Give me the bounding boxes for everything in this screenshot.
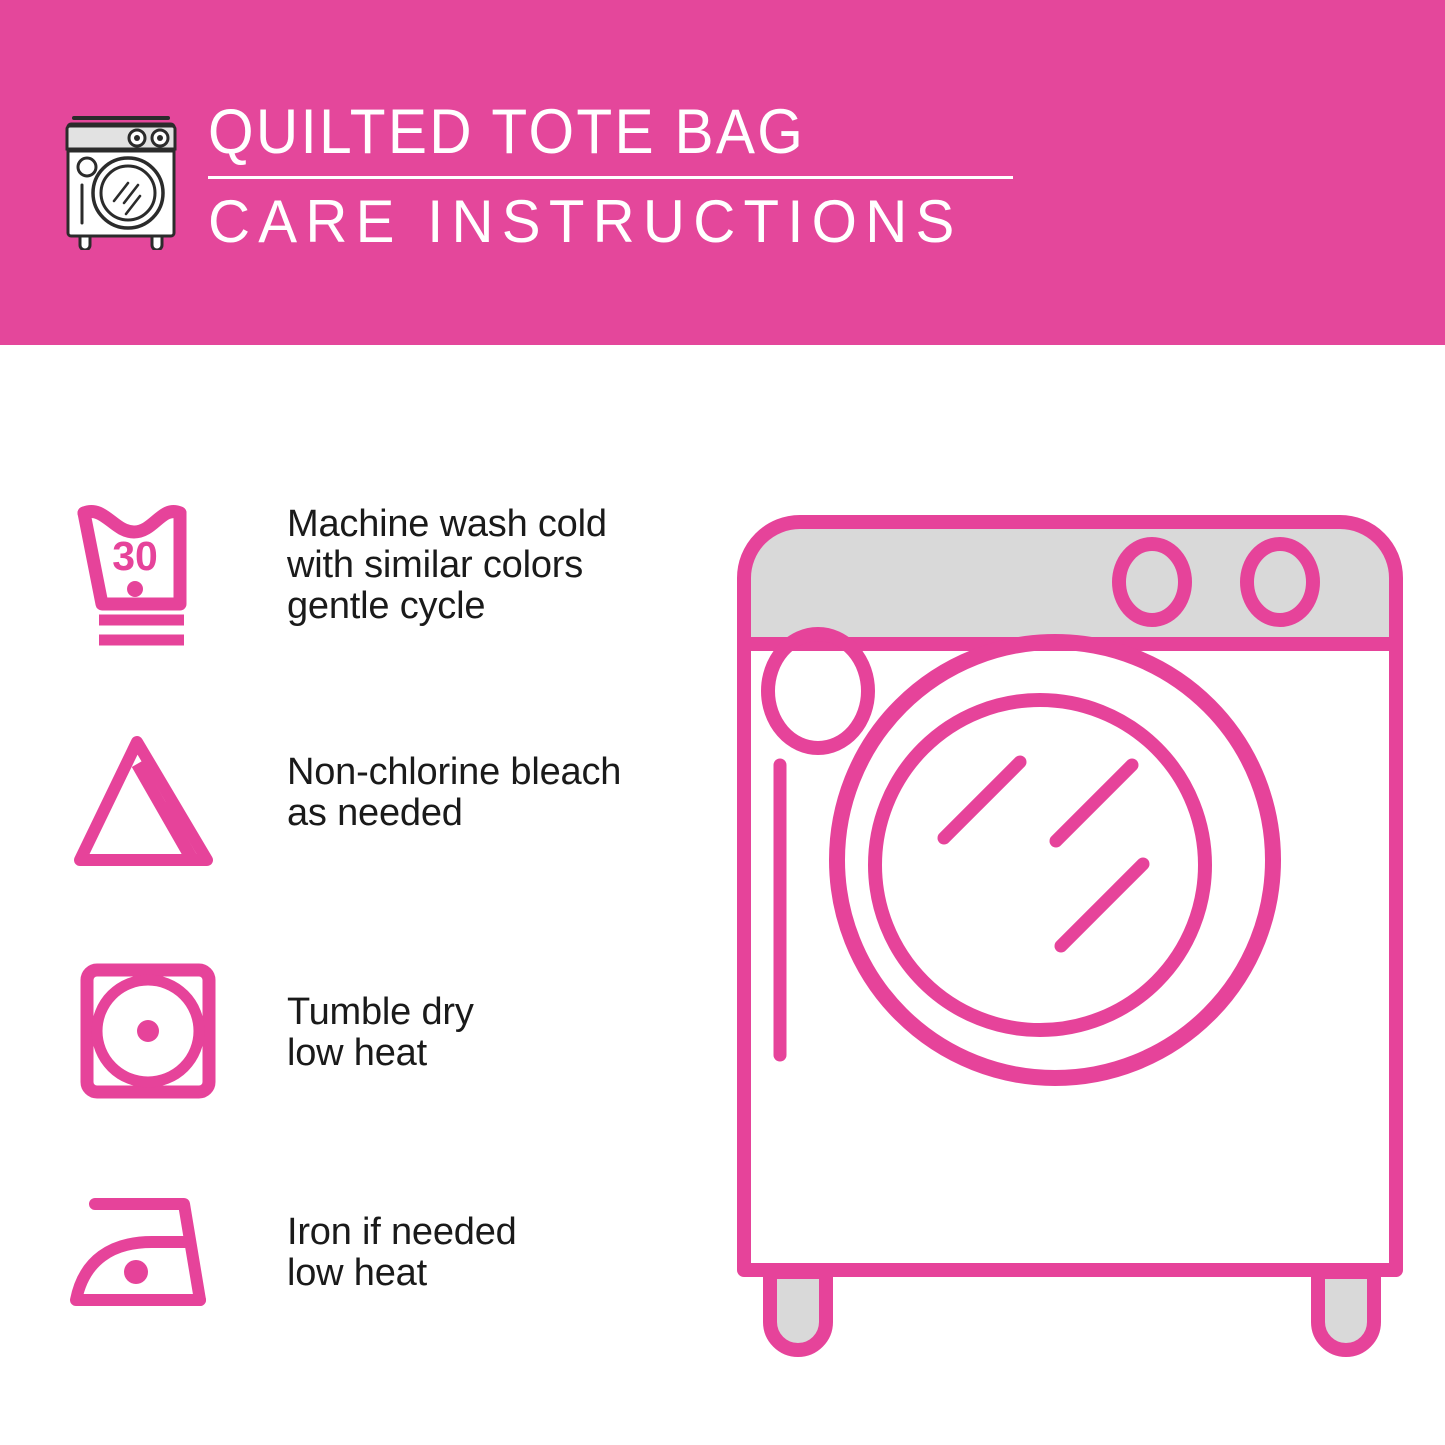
header-band: QUILTED TOTE BAG CARE INSTRUCTIONS [0, 0, 1445, 345]
iron-low-heat-icon [62, 1182, 242, 1347]
drum-shine-lines [944, 762, 1143, 946]
instruction-row-tumble-dry: Tumble dry low heat [62, 952, 702, 1182]
leg-left [770, 1272, 826, 1350]
instruction-line: Machine wash cold [287, 504, 607, 545]
header-inner: QUILTED TOTE BAG CARE INSTRUCTIONS [60, 98, 1390, 258]
instruction-row-wash: 30 Machine wash cold with similar colors… [62, 492, 702, 722]
instruction-text-wash: Machine wash cold with similar colors ge… [242, 492, 607, 627]
detergent-dispenser-circle [768, 634, 868, 748]
wash-tub-30-gentle-icon: 30 [62, 492, 242, 657]
drum-inner-ring [875, 700, 1205, 1030]
instruction-line: Non-chlorine bleach [287, 752, 621, 793]
instruction-line: gentle cycle [287, 586, 607, 627]
header-text-block: QUILTED TOTE BAG CARE INSTRUCTIONS [208, 95, 1058, 255]
care-instructions-page: QUILTED TOTE BAG CARE INSTRUCTIONS 30 [0, 0, 1445, 1445]
instruction-list: 30 Machine wash cold with similar colors… [62, 492, 702, 1412]
instruction-text-tumble-dry: Tumble dry low heat [242, 952, 474, 1074]
header-divider [208, 176, 1013, 179]
non-chlorine-bleach-triangle-icon [62, 722, 242, 887]
control-panel [744, 522, 1396, 644]
instruction-row-iron: Iron if needed low heat [62, 1182, 702, 1412]
instruction-text-bleach: Non-chlorine bleach as needed [242, 722, 621, 834]
instruction-text-iron: Iron if needed low heat [242, 1182, 517, 1294]
instruction-line: Tumble dry [287, 992, 474, 1033]
page-subtitle: CARE INSTRUCTIONS [208, 189, 1033, 255]
tumble-dry-low-icon [62, 952, 242, 1117]
instruction-row-bleach: Non-chlorine bleach as needed [62, 722, 702, 952]
leg-right [1318, 1272, 1374, 1350]
instruction-line: as needed [287, 793, 621, 834]
washing-machine-illustration [700, 460, 1440, 1380]
instruction-line: Iron if needed [287, 1212, 517, 1253]
wash-temperature-label: 30 [112, 533, 158, 579]
washing-machine-icon [60, 98, 190, 250]
instruction-line: low heat [287, 1253, 517, 1294]
page-title: QUILTED TOTE BAG [208, 95, 999, 169]
instruction-line: low heat [287, 1033, 474, 1074]
instruction-line: with similar colors [287, 545, 607, 586]
